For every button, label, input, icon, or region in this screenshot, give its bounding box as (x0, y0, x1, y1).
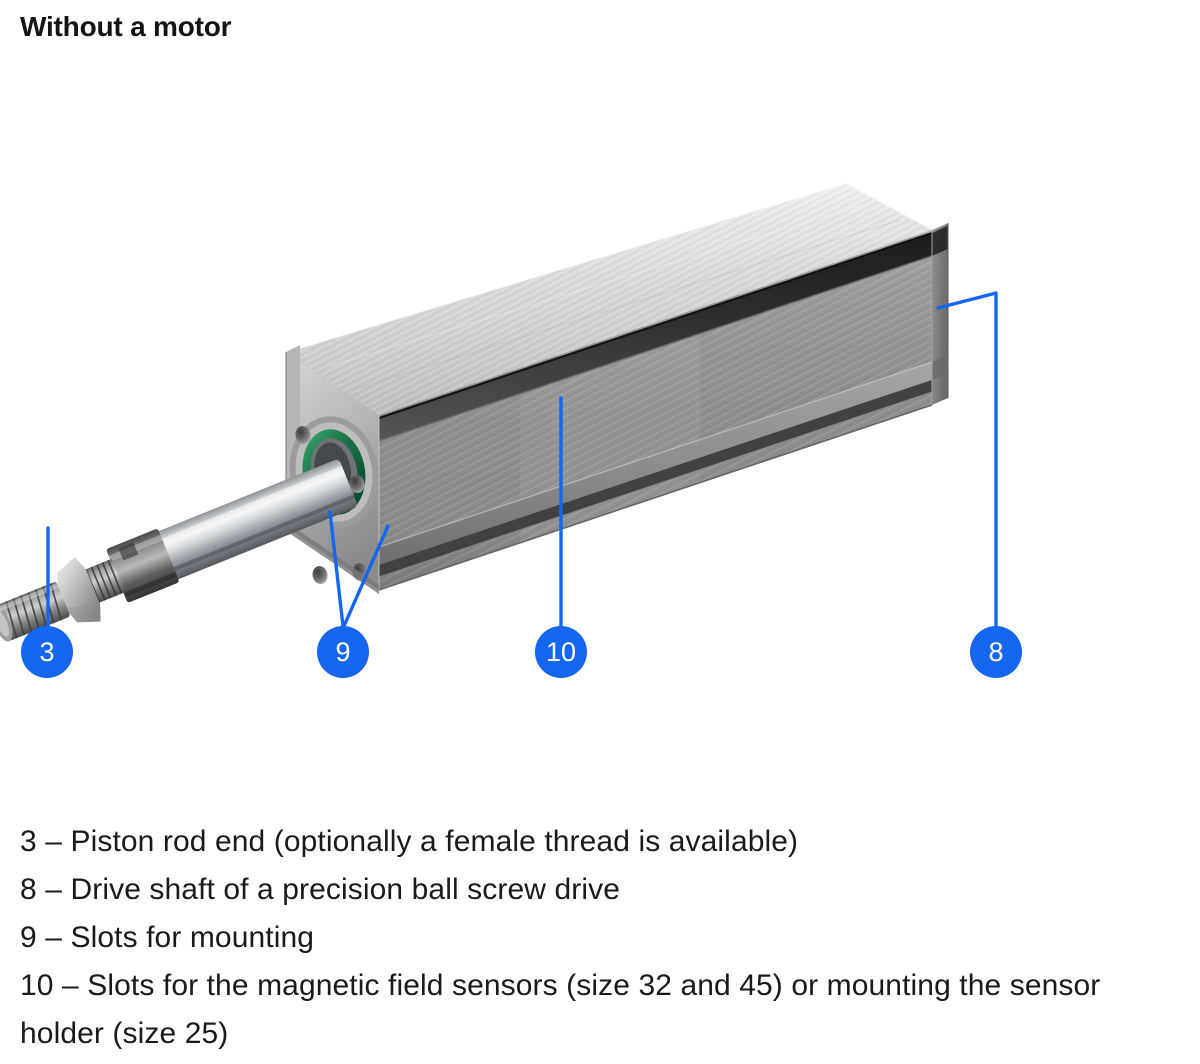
caption-3-text: Piston rod end (optionally a female thre… (70, 825, 798, 858)
caption-9-dash: – (45, 921, 62, 954)
actuator-illustration-svg: 3 9 10 8 (0, 60, 1200, 800)
caption-9-number: 9 (20, 921, 37, 954)
caption-line-8: 8 – Drive shaft of a precision ball scre… (20, 866, 1140, 914)
page-title: Without a motor (20, 11, 231, 43)
caption-line-9: 9 – Slots for mounting (20, 914, 1140, 962)
caption-8-number: 8 (20, 873, 37, 906)
callout-10-label: 10 (546, 637, 576, 667)
caption-10-number: 10 (20, 969, 54, 1002)
caption-3-number: 3 (20, 825, 37, 858)
callout-8-label: 8 (988, 637, 1003, 667)
caption-8-dash: – (45, 873, 62, 906)
caption-10-dash: – (62, 969, 79, 1002)
caption-line-10: 10 – Slots for the magnetic field sensor… (20, 962, 1140, 1058)
callout-9[interactable]: 9 (317, 626, 369, 678)
callout-badges: 3 9 10 8 (21, 626, 1022, 678)
caption-8-text: Drive shaft of a precision ball screw dr… (70, 873, 620, 906)
callout-10[interactable]: 10 (535, 626, 587, 678)
caption-10-text: Slots for the magnetic field sensors (si… (20, 969, 1100, 1050)
caption-line-3: 3 – Piston rod end (optionally a female … (20, 818, 1140, 866)
callout-8[interactable]: 8 (970, 626, 1022, 678)
caption-legend: 3 – Piston rod end (optionally a female … (20, 818, 1140, 1058)
callout-9-label: 9 (335, 637, 350, 667)
caption-9-text: Slots for mounting (70, 921, 314, 954)
body-end-face (932, 223, 948, 405)
callout-3-label: 3 (39, 637, 54, 667)
actuator-illustration: 3 9 10 8 (0, 60, 1200, 800)
caption-3-dash: – (45, 825, 62, 858)
callout-3[interactable]: 3 (21, 626, 73, 678)
